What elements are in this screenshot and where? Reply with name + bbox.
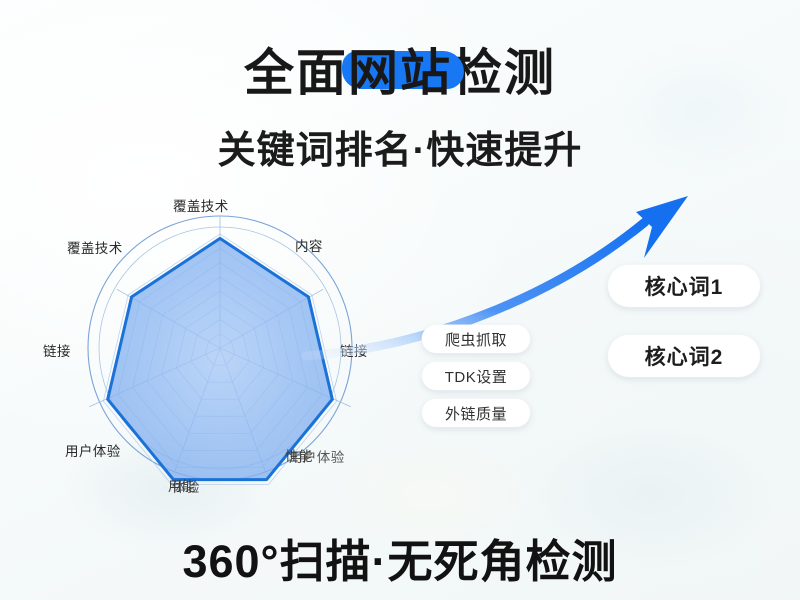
radar-label-left: 链接 <box>43 340 71 360</box>
headline-part-after: 检测 <box>452 45 556 101</box>
radar-label-bottom-overlay: 体验 <box>172 476 200 496</box>
page-title: 全面网站检测 <box>0 33 800 105</box>
tag-pill-backlink[interactable]: 外链质量 <box>422 399 530 427</box>
keyword-pill-2[interactable]: 核心词2 <box>608 335 760 377</box>
keyword-pill-1[interactable]: 核心词1 <box>608 265 760 307</box>
radar-label-bottom-left: 用户体验 <box>65 440 121 460</box>
radar-label-top: 覆盖技术 <box>173 195 229 215</box>
headline-part-highlight: 网站 <box>348 45 452 101</box>
tag-pill-tdk[interactable]: TDK设置 <box>422 362 530 390</box>
page-footer-title: 360°扫描·无死角检测 <box>0 525 800 590</box>
radar-label-bottom: 用能体验 <box>168 475 196 495</box>
page-subtitle: 关键词排名·快速提升 <box>0 119 800 174</box>
radar-label-bottom-right-overlay: 用户体验 <box>289 446 345 466</box>
tag-pill-crawl[interactable]: 爬虫抓取 <box>422 325 530 353</box>
headline-highlight-wrap: 网站 <box>348 33 452 105</box>
radar-label-bottom-right: 性能用户体验 <box>285 445 313 465</box>
radar-data-polygon <box>108 238 333 479</box>
headline-part-before: 全面 <box>244 45 348 101</box>
poster-canvas: 全面网站检测 关键词排名·快速提升 <box>0 0 800 600</box>
radar-label-top-left: 覆盖技术 <box>67 237 123 257</box>
